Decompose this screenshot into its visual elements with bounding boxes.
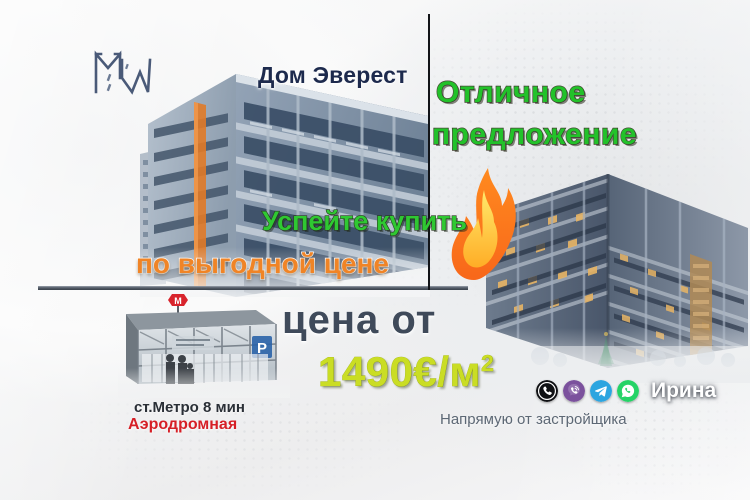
urgency-text: Успейте купить	[262, 206, 467, 237]
benefit-text: по выгодной цене	[136, 248, 389, 280]
phone-call-icon[interactable]	[536, 380, 558, 402]
project-name-title: Дом Эверест	[258, 62, 408, 89]
whatsapp-icon[interactable]	[617, 380, 639, 402]
agent-name: Ирина	[651, 379, 716, 403]
metro-station-name: Аэродромная	[128, 416, 237, 434]
developer-tagline: Напрямую от застройщика	[440, 411, 627, 428]
metro-entrance-image: М P	[118, 288, 290, 398]
contact-strip: Ирина	[536, 376, 716, 406]
vertical-divider	[428, 14, 430, 290]
svg-text:М: М	[174, 296, 182, 306]
horizontal-divider	[38, 286, 468, 290]
price-unit-superscript: 2	[481, 350, 494, 376]
offer-headline-line1: Отличное	[436, 76, 586, 110]
price-amount: 1490€/м	[318, 348, 481, 395]
telegram-icon[interactable]	[590, 380, 612, 402]
real-estate-ad-poster: М P	[0, 0, 750, 500]
metro-distance-text: ст.Метро 8 мин	[134, 399, 245, 416]
price-value: 1490€/м2	[318, 348, 494, 396]
viber-icon[interactable]	[563, 380, 585, 402]
building-image-right	[480, 168, 750, 383]
price-label: цена от	[282, 298, 436, 343]
offer-headline-line2: предложение	[432, 118, 637, 152]
